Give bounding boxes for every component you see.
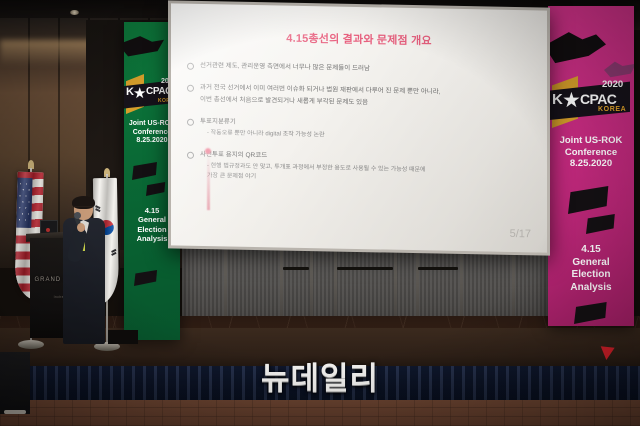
bullet-circle-icon bbox=[187, 63, 194, 70]
slide-bullet: 사전투표 용지의 QR코드 - 현행 법규정과도 안 맞고, 투개표 과정에서 … bbox=[187, 149, 531, 189]
bullet-circle-icon bbox=[187, 152, 194, 159]
bullet-circle-icon bbox=[187, 119, 194, 126]
banner-right-kcpac: K ★ CPAC 2020 KOREA Joint US-ROK Confere… bbox=[548, 6, 634, 326]
speaker-cabinet-stand bbox=[4, 410, 26, 414]
watermark-text: 뉴데일리 bbox=[261, 353, 379, 398]
foreground-carpet bbox=[0, 400, 640, 426]
slide-page-number: 5/17 bbox=[510, 228, 531, 240]
banner-right-conference-text: Joint US-ROK Conference 8.25.2020 bbox=[548, 135, 634, 170]
banner-left-star-icon: ★ bbox=[133, 84, 146, 102]
banner-right-logo-cpac: CPAC bbox=[580, 91, 616, 107]
banner-right-year: 2020 bbox=[602, 79, 623, 90]
banner-right-star-icon: ★ bbox=[562, 88, 581, 113]
flag-base bbox=[18, 340, 44, 349]
eyeglasses-icon bbox=[74, 206, 93, 210]
watermark: 뉴데일리 bbox=[0, 353, 640, 398]
speaker-person bbox=[62, 198, 106, 344]
projection-screen: 4.15총선의 결과와 문제점 개요 선거관련 제도, 관리운영 측면에서 너무… bbox=[168, 0, 550, 255]
presentation-slide: 4.15총선의 결과와 문제점 개요 선거관련 제도, 관리운영 측면에서 너무… bbox=[171, 3, 547, 252]
laser-pointer-dot bbox=[205, 148, 211, 154]
slide-bullet: 투표지분류기 - 작동오류 뿐만 아니라 digital 조작 가능성 논란 bbox=[187, 116, 531, 145]
banner-right-korea: KOREA bbox=[598, 106, 626, 113]
laser-pointer-beam bbox=[207, 152, 210, 210]
slide-bullet: 과거 전국 선거에서 이미 여러번 이슈화 되거나 법원 재판에서 다루어 진 … bbox=[187, 82, 531, 111]
equipment-case bbox=[108, 330, 138, 344]
conference-photo-scene: K ★ CPAC 2020 KOREA Joint US-ROK Confere… bbox=[0, 0, 640, 426]
banner-right-analysis-text: 4.15 General Election Analysis bbox=[548, 244, 634, 294]
ceiling-light-icon bbox=[70, 10, 79, 15]
slide-title: 4.15총선의 결과와 문제점 개요 bbox=[187, 28, 531, 51]
watermark-triangle-icon bbox=[599, 346, 614, 360]
bullet-circle-icon bbox=[187, 85, 194, 92]
monitor-led-icon bbox=[46, 228, 50, 232]
bullet-line: 선거관련 제도, 관리운영 측면에서 너무나 많은 문제들이 드러남 bbox=[200, 60, 531, 78]
slide-bullet: 선거관련 제도, 관리운영 측면에서 너무나 많은 문제들이 드러남 bbox=[187, 60, 531, 78]
